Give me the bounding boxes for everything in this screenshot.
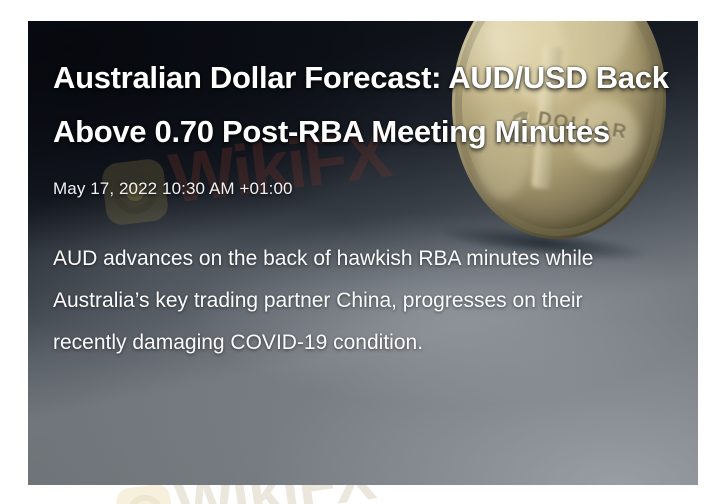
aperture-icon	[125, 493, 166, 504]
article-timestamp: May 17, 2022 10:30 AM +01:00	[53, 179, 676, 199]
article-text-overlay: Australian Dollar Forecast: AUD/USD Back…	[53, 51, 676, 364]
wikifx-logo-icon	[115, 483, 176, 504]
article-summary: AUD advances on the back of hawkish RBA …	[53, 238, 643, 364]
page-title: Australian Dollar Forecast: AUD/USD Back…	[53, 51, 671, 159]
article-hero-card: 1 DOLLAR WikiFX Australian Dollar Foreca…	[28, 21, 698, 485]
